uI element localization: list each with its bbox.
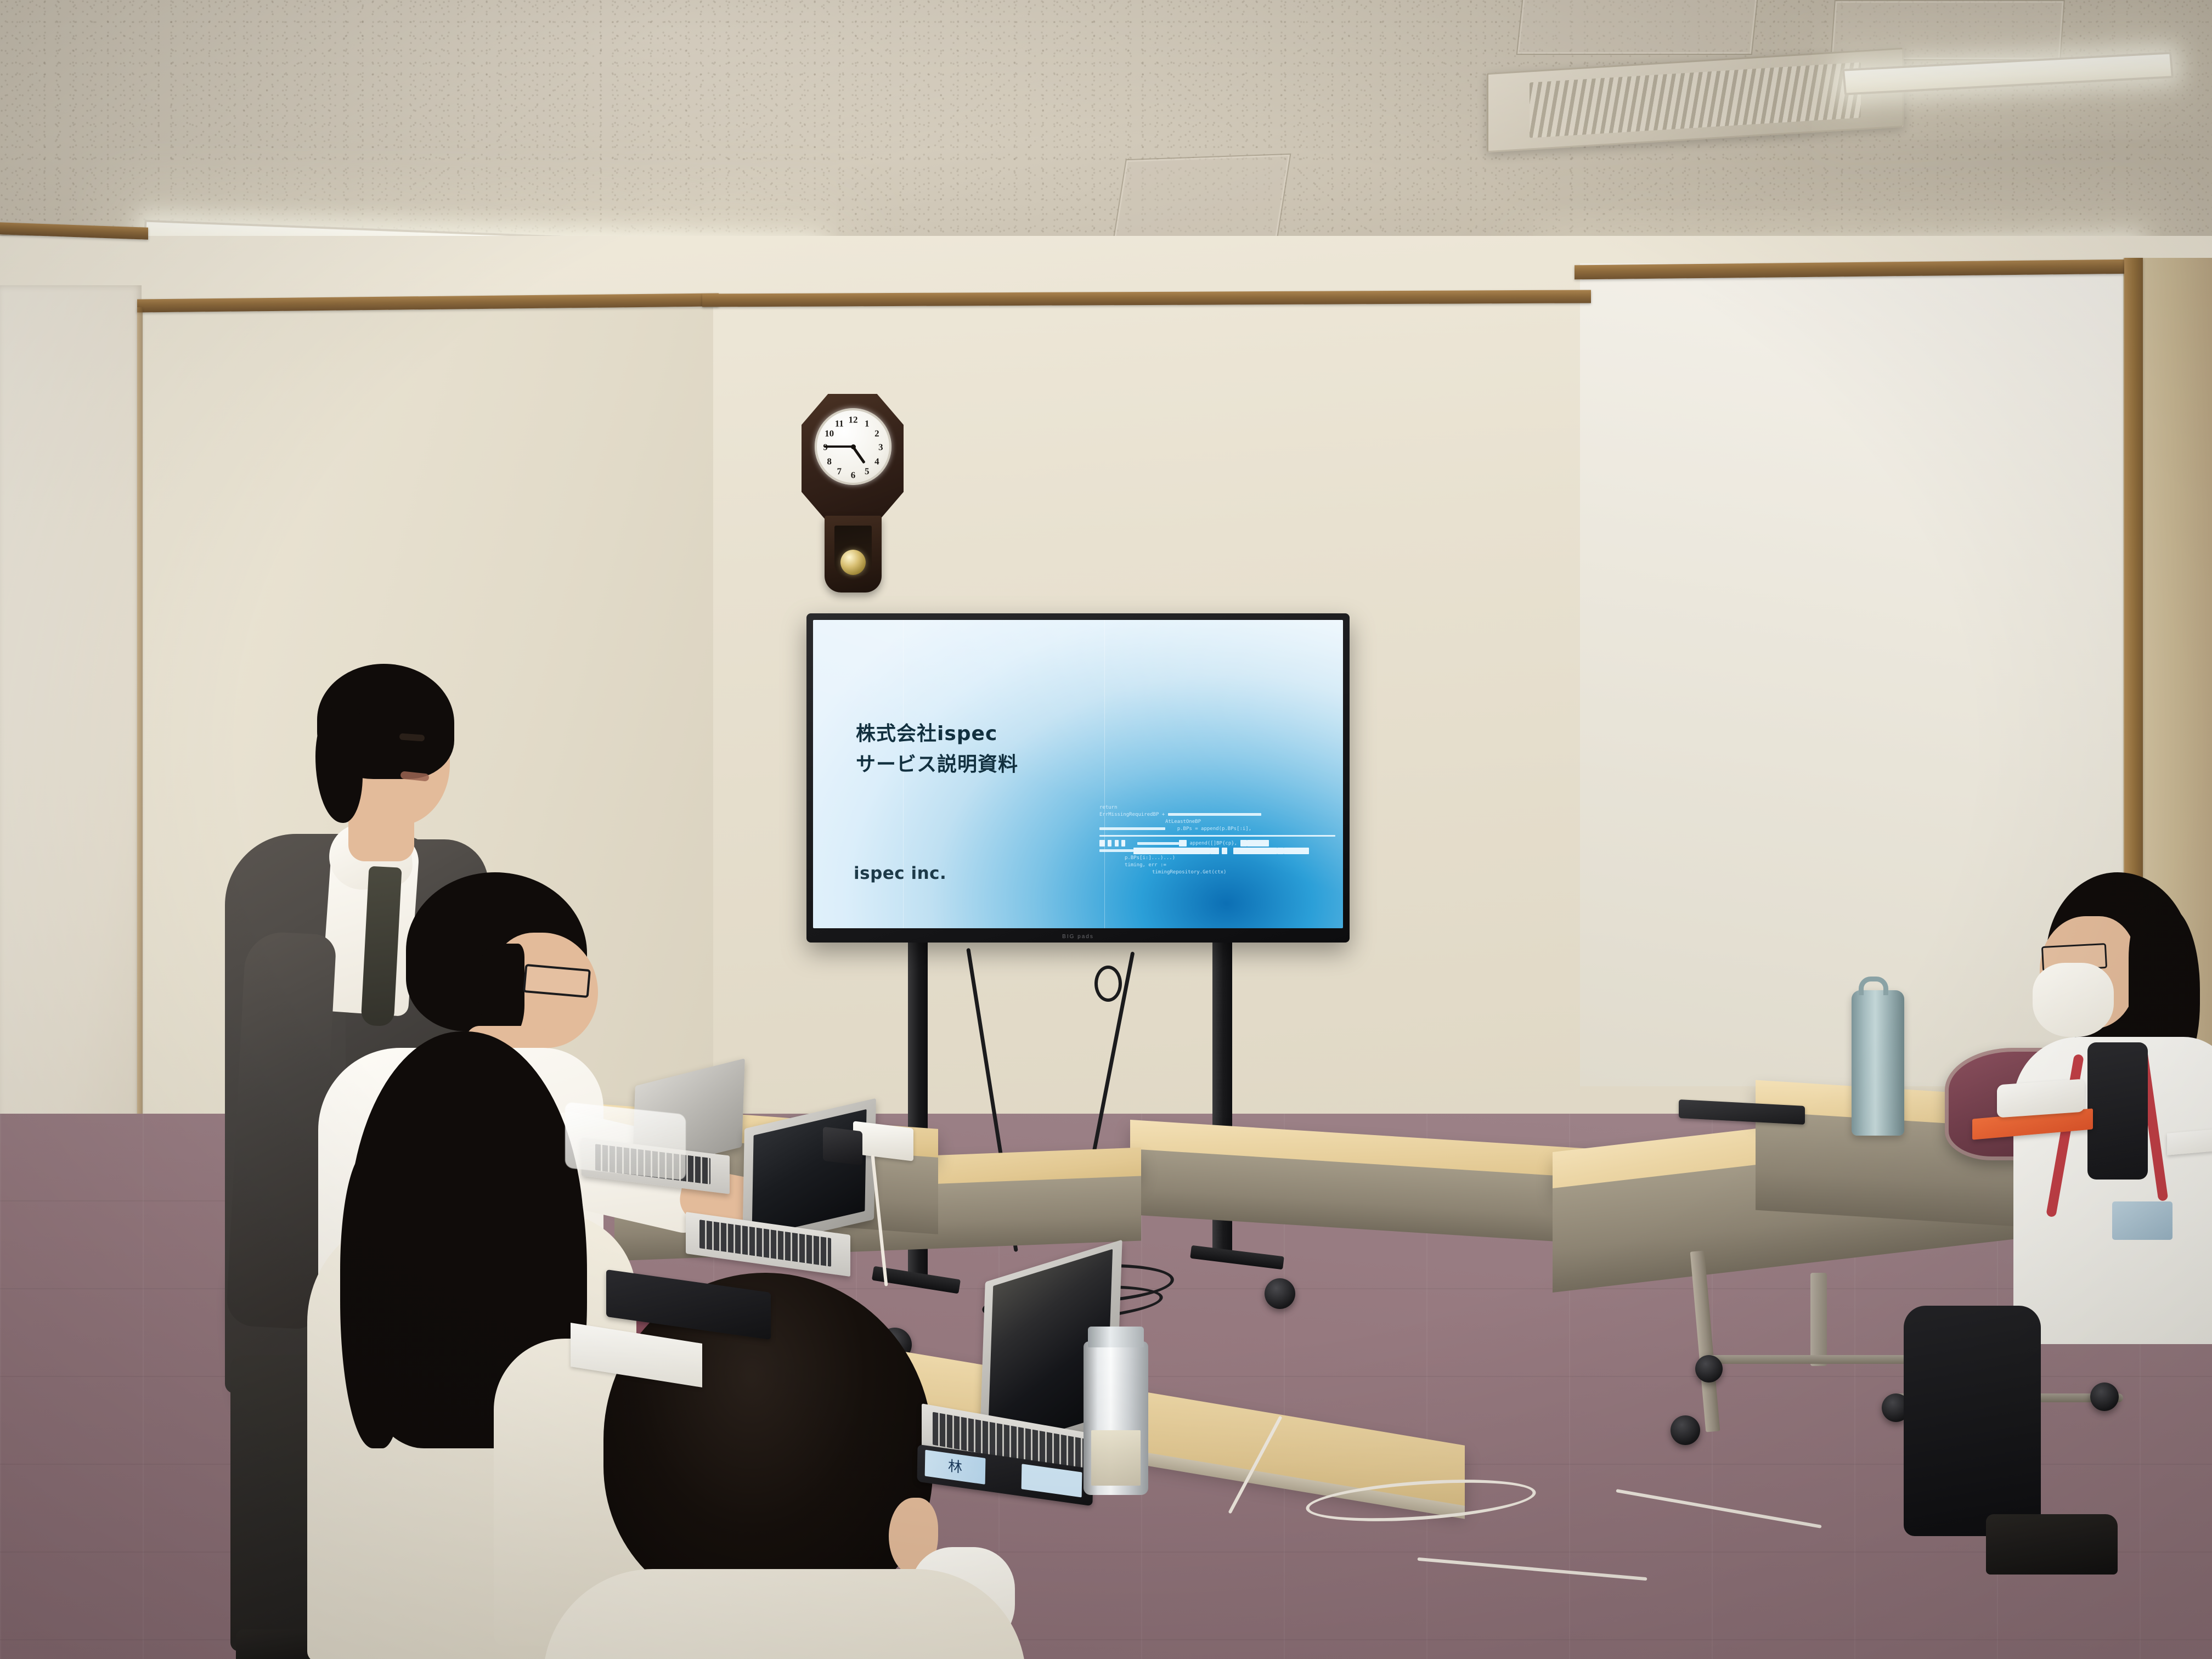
phone-sticker-kanji: 林 [925,1450,986,1485]
ceiling-hatch-3 [1516,0,1759,55]
aluminium-bottle-cap[interactable] [1088,1327,1144,1347]
whitecoat-face-mask [2033,963,2114,1037]
code-line-7: timingRepository.Get(ctx) [1152,870,1226,875]
code-line-1: ErrMissingRequiredBP + [1099,812,1165,817]
clock-numeral-5: 5 [865,466,870,476]
clock-numeral-1: 1 [865,419,870,428]
display-cable-knot [1094,966,1122,1002]
chair-mid-caster [1695,1355,1723,1383]
clock-numeral-6: 6 [851,470,856,479]
whitecoat-shoe [1986,1514,2118,1575]
clock-pivot [851,444,856,449]
display-screen: 株式会社ispec サービス説明資料 ispec inc. return Err… [813,620,1343,928]
thermos-tumbler[interactable] [1852,990,1904,1136]
chair-mid-base [1706,1355,1926,1364]
whitecoat-pocket-badge [2112,1201,2172,1240]
code-line-5: p.BPs[i:]...)...) [1125,855,1175,861]
table-right-front-caster [1671,1415,1700,1445]
clock-numeral-12: 12 [849,415,858,425]
clock-pendulum-window [834,526,872,576]
bottle-label [1091,1430,1141,1486]
code-line-3: p.BPs = append(p.BPs[:i], [1177,826,1251,832]
foreground-person-shoulders [543,1569,1026,1659]
clock-numeral-2: 2 [874,429,879,438]
white-tissue-right[interactable] [1997,1079,2085,1118]
slide-title-line-2: サービス説明資料 [856,749,1185,780]
code-line-4: append([]BP{cp}, [1189,841,1237,847]
wall-left-partition [0,285,142,1218]
slide-title-line-1: 株式会社ispec [856,719,1185,749]
clock-numeral-3: 3 [878,443,883,452]
clock-pendulum-bob [840,550,866,575]
slide-logo: ispec inc. [854,864,946,883]
woman-hair-strand-left [340,1152,406,1448]
clock-numeral-10: 10 [825,429,834,438]
presentation-display[interactable]: 株式会社ispec サービス説明資料 ispec inc. return Err… [806,613,1350,943]
whitecoat-inner-shirt [2087,1042,2148,1180]
meeting-room-photo: 12 1 2 3 4 5 6 7 8 9 10 11 [0,0,2212,1659]
slide-title: 株式会社ispec サービス説明資料 [856,719,1185,780]
plastic-bag[interactable] [565,1102,686,1180]
wall-clock: 12 1 2 3 4 5 6 7 8 9 10 11 [798,394,908,602]
participant-glasses-eyewear [523,964,591,998]
clock-pendulum-box [825,516,882,592]
code-line-0: return [1099,805,1118,810]
clock-face: 12 1 2 3 4 5 6 7 8 9 10 11 [815,408,891,485]
display-brand-mark: BIG pads [1062,934,1094,940]
ceiling-hatch-1 [1111,154,1291,247]
chair-mid-post [1810,1273,1827,1366]
code-line-2: AtLeastOneBP [1165,819,1201,825]
phone-sticker-blue [1022,1464,1082,1497]
whitecoat-legs [1904,1306,2041,1536]
display-stand-caster-right [1265,1278,1295,1309]
chair-right-caster-2 [2090,1383,2119,1411]
aluminium-bottle[interactable] [1084,1341,1148,1495]
clock-numeral-4: 4 [874,456,879,466]
clock-minute-hand [825,445,853,448]
power-adapter-block [823,1127,862,1166]
code-line-6: timing, err := [1125,862,1166,868]
partition-seam [137,307,143,1218]
slide-code-decoration: return ErrMissingRequiredBP + AtLeastOne… [1099,804,1335,919]
clock-numeral-11: 11 [835,419,844,428]
clock-numeral-8: 8 [827,456,832,466]
presenter-hair-side [315,708,363,823]
tumbler-handle [1859,977,1888,995]
clock-numeral-7: 7 [837,466,842,476]
